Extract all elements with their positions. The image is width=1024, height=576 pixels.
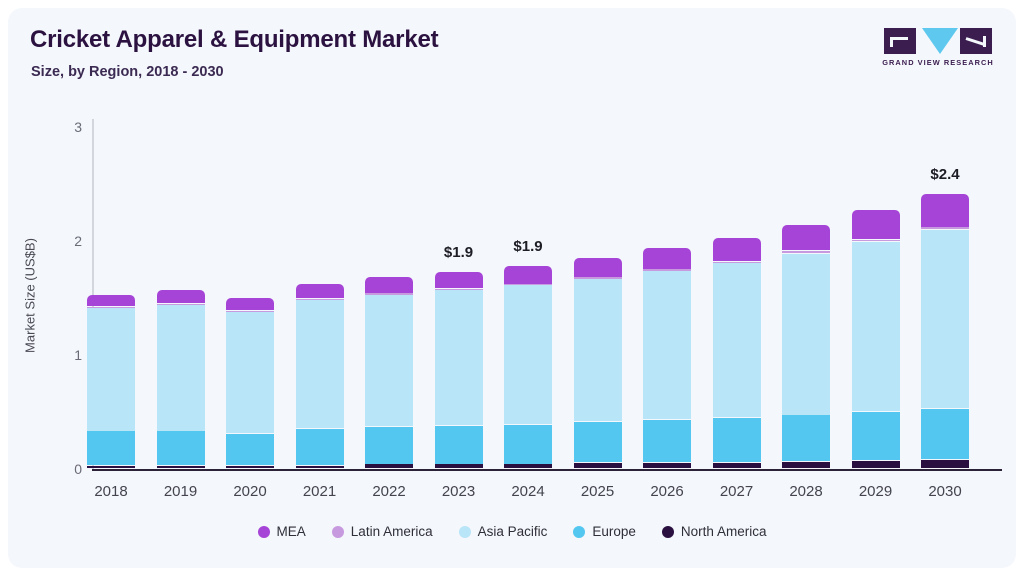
bar-segment-2029-mea[interactable] [852,210,900,239]
bar-segment-2025-mea[interactable] [574,258,622,277]
data-label-2023: $1.9 [419,244,499,261]
bar-segment-2024-asia-pacific[interactable] [504,285,552,423]
bar-segment-2021-north-america[interactable] [296,466,344,469]
bar-segment-2027-north-america[interactable] [713,463,761,468]
bar-segment-2019-asia-pacific[interactable] [157,305,205,431]
bar-segment-2020-north-america[interactable] [226,466,274,469]
bar-segment-2028-latin-america[interactable] [782,251,830,252]
bar-segment-2018-asia-pacific[interactable] [87,308,135,430]
bar-segment-2026-asia-pacific[interactable] [643,271,691,420]
bar-segment-2021-mea[interactable] [296,284,344,298]
bar-segment-2028-asia-pacific[interactable] [782,254,830,415]
legend-item-latin-america[interactable]: Latin America [332,524,433,539]
bar-segment-2027-asia-pacific[interactable] [713,263,761,417]
legend-item-asia-pacific[interactable]: Asia Pacific [459,524,548,539]
bar-segment-2027-europe[interactable] [713,418,761,463]
bar-2024[interactable] [504,266,552,469]
bar-segment-2022-asia-pacific[interactable] [365,295,413,426]
chart-card: Cricket Apparel & Equipment Market Size,… [8,8,1016,568]
bar-segment-2030-north-america[interactable] [921,460,969,468]
bar-segment-2022-north-america[interactable] [365,464,413,468]
legend-item-label: MEA [277,524,306,539]
legend-swatch-icon [258,526,270,538]
y-axis-tick-0: 0 [48,461,82,477]
bar-segment-2029-asia-pacific[interactable] [852,242,900,411]
bar-2029[interactable] [852,210,900,469]
x-axis-tick-2018: 2018 [71,483,151,500]
bar-segment-2023-asia-pacific[interactable] [435,290,483,425]
bar-2018[interactable] [87,295,135,469]
bar-segment-2024-north-america[interactable] [504,464,552,468]
x-axis-tick-2027: 2027 [697,483,777,500]
x-axis-tick-2026: 2026 [627,483,707,500]
bar-segment-2030-latin-america[interactable] [921,227,969,228]
bar-2026[interactable] [643,248,691,469]
bar-segment-2018-north-america[interactable] [87,466,135,469]
x-axis-tick-2028: 2028 [766,483,846,500]
chart-legend: MEALatin AmericaAsia PacificEuropeNorth … [8,524,1016,539]
legend-swatch-icon [662,526,674,538]
bar-2027[interactable] [713,238,761,469]
bar-segment-2029-europe[interactable] [852,412,900,460]
y-axis-tick-1: 1 [48,347,82,363]
bar-segment-2019-europe[interactable] [157,431,205,464]
legend-item-europe[interactable]: Europe [573,524,636,539]
x-axis-tick-2024: 2024 [488,483,568,500]
x-axis-line [92,469,1002,471]
bar-segment-2027-mea[interactable] [713,238,761,261]
bar-segment-2026-mea[interactable] [643,248,691,269]
y-axis-label: Market Size (US$B) [23,126,38,466]
bar-2030[interactable] [921,194,969,469]
x-axis-tick-2020: 2020 [210,483,290,500]
bar-2023[interactable] [435,272,483,469]
bar-segment-2020-mea[interactable] [226,298,274,310]
data-label-2024: $1.9 [488,238,568,255]
bar-segment-2026-europe[interactable] [643,420,691,463]
legend-item-mea[interactable]: MEA [258,524,306,539]
legend-item-north-america[interactable]: North America [662,524,767,539]
bar-segment-2025-asia-pacific[interactable] [574,279,622,422]
bar-segment-2029-latin-america[interactable] [852,240,900,241]
bar-2019[interactable] [157,290,205,469]
legend-swatch-icon [332,526,344,538]
x-axis-tick-2029: 2029 [836,483,916,500]
x-axis-tick-2021: 2021 [280,483,360,500]
bar-2028[interactable] [782,225,830,469]
bar-segment-2028-mea[interactable] [782,225,830,250]
bar-segment-2024-mea[interactable] [504,266,552,283]
data-label-2030: $2.4 [905,166,985,183]
x-axis-tick-2030: 2030 [905,483,985,500]
bar-segment-2018-europe[interactable] [87,431,135,464]
y-axis-tick-3: 3 [48,119,82,135]
x-axis-tick-2022: 2022 [349,483,429,500]
bar-chart-plot: Market Size (US$B) 0123 2018201920202021… [8,8,1016,568]
bar-2025[interactable] [574,258,622,469]
bar-2020[interactable] [226,298,274,469]
bar-segment-2030-asia-pacific[interactable] [921,230,969,408]
bar-segment-2030-europe[interactable] [921,409,969,460]
x-axis-tick-2025: 2025 [558,483,638,500]
bar-segment-2029-north-america[interactable] [852,461,900,468]
x-axis-tick-2023: 2023 [419,483,499,500]
bar-segment-2023-north-america[interactable] [435,464,483,468]
legend-swatch-icon [573,526,585,538]
legend-item-label: Asia Pacific [478,524,548,539]
y-axis-tick-2: 2 [48,233,82,249]
bar-segment-2021-europe[interactable] [296,429,344,465]
bar-2022[interactable] [365,277,413,469]
bar-segment-2019-mea[interactable] [157,290,205,303]
bar-2021[interactable] [296,284,344,469]
bar-segment-2020-asia-pacific[interactable] [226,312,274,433]
legend-item-label: Latin America [351,524,433,539]
bar-segment-2022-europe[interactable] [365,427,413,464]
bar-segment-2024-europe[interactable] [504,425,552,464]
x-axis-tick-2019: 2019 [141,483,221,500]
bar-segment-2028-north-america[interactable] [782,462,830,468]
bar-segment-2025-north-america[interactable] [574,463,622,468]
bar-segment-2023-mea[interactable] [435,272,483,288]
bar-segment-2019-north-america[interactable] [157,466,205,469]
legend-item-label: North America [681,524,767,539]
bar-segment-2018-mea[interactable] [87,295,135,307]
bar-segment-2026-north-america[interactable] [643,463,691,468]
bar-segment-2030-mea[interactable] [921,194,969,226]
bar-segment-2022-mea[interactable] [365,277,413,292]
legend-item-label: Europe [592,524,636,539]
bar-segment-2025-europe[interactable] [574,422,622,462]
bar-segment-2028-europe[interactable] [782,415,830,461]
bar-segment-2020-europe[interactable] [226,434,274,465]
bar-segment-2021-asia-pacific[interactable] [296,300,344,428]
bar-segment-2023-europe[interactable] [435,426,483,464]
legend-swatch-icon [459,526,471,538]
